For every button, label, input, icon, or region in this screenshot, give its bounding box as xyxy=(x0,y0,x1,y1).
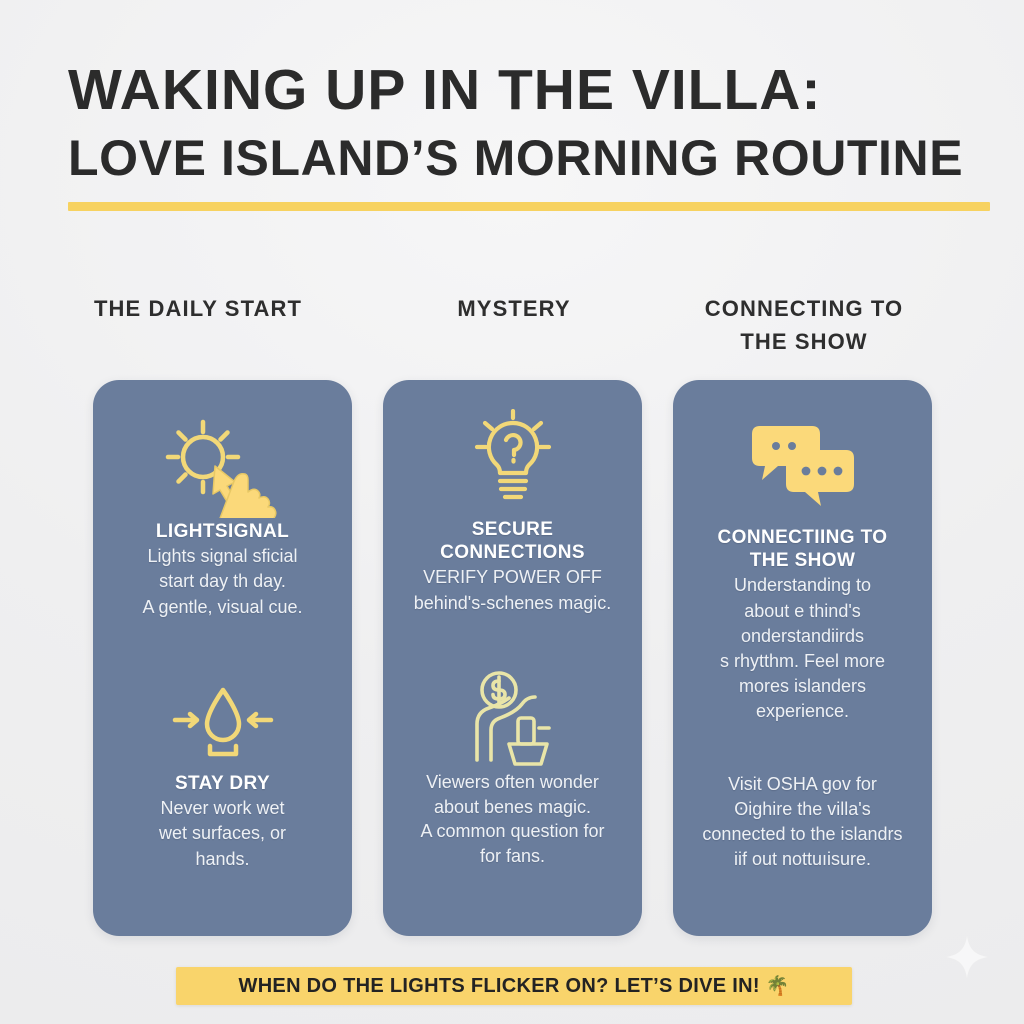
card1-block1-body: Lights signal sficial start day th day. … xyxy=(107,544,338,620)
card2-block1-body-line-2: behind's-schenes magic. xyxy=(397,591,628,616)
page-title-line-2: LOVE ISLAND’S MORNING ROUTINE xyxy=(68,133,990,183)
card1-block-lightsignal: LIGHTSIGNAL Lights signal sficial start … xyxy=(107,520,338,620)
card-daily-start[interactable]: LIGHTSIGNAL Lights signal sficial start … xyxy=(93,380,352,936)
card1-block1-title: LIGHTSIGNAL xyxy=(107,520,338,543)
water-droplet-icon xyxy=(107,668,338,772)
card3-block1-body-line-4: s rhytthm. Feel more xyxy=(687,649,918,674)
card3-block2-body-line-4: iif out nottuıisure. xyxy=(687,847,918,872)
card3-block1-body-line-3: onderstandiirds xyxy=(687,624,918,649)
cta-banner[interactable]: WHEN DO THE LIGHTS FLICKER ON? LET’S DIV… xyxy=(176,967,852,1005)
column-heading-daily-start: THE DAILY START xyxy=(94,292,354,358)
card3-block2-body-line-2: ʘighire the villa's xyxy=(687,797,918,822)
infographic-page: WAKING UP IN THE VILLA: LOVE ISLAND’S MO… xyxy=(0,0,1024,1024)
card2-block2-body-line-4: for fans. xyxy=(397,844,628,869)
title-underline-rule xyxy=(68,202,990,211)
column-headings: THE DAILY START MYSTERY CONNECTING TO TH… xyxy=(94,292,934,358)
card3-block-osha: Visit OSHA gov for ʘighire the villa's c… xyxy=(687,771,918,871)
card3-block1-body-line-6: experience. xyxy=(687,699,918,724)
column-heading-connecting-line-1: CONNECTING TO xyxy=(674,292,934,325)
card1-block1-body-line-1: Lights signal sficial xyxy=(107,544,338,569)
lightbulb-question-icon xyxy=(397,406,628,518)
card2-block2-body-line-1: Viewers often wonder xyxy=(397,770,628,795)
card3-block1-title-line-1: CONNECTIING TO xyxy=(687,526,918,549)
card-connecting-to-the-show[interactable]: CONNECTIING TO THE SHOW Understanding to… xyxy=(673,380,932,936)
card3-block1-title-line-2: THE SHOW xyxy=(687,549,918,572)
card2-block1-body: VERIFY POWER OFF behind's-schenes magic. xyxy=(397,565,628,615)
card2-block1-body-line-1: VERIFY POWER OFF xyxy=(397,565,628,590)
card3-block1-body-line-1: Understanding to xyxy=(687,573,918,598)
card3-block1-body-line-5: mores islanders xyxy=(687,674,918,699)
cta-banner-text: WHEN DO THE LIGHTS FLICKER ON? LET’S DIV… xyxy=(239,975,760,998)
column-heading-mystery: MYSTERY xyxy=(384,292,644,358)
card1-block2-body-line-2: wet surfaces, or xyxy=(107,821,338,846)
page-title-line-1: WAKING UP IN THE VILLA: xyxy=(68,62,990,119)
card2-block1-title-line-1: SECURE xyxy=(397,518,628,541)
sun-with-pointer-icon xyxy=(107,408,338,520)
card1-block2-body: Never work wet wet surfaces, or hands. xyxy=(107,796,338,872)
header: WAKING UP IN THE VILLA: LOVE ISLAND’S MO… xyxy=(68,62,990,211)
card3-block2-body-line-1: Visit OSHA gov for xyxy=(687,772,918,797)
card1-block2-title: STAY DRY xyxy=(107,772,338,795)
card1-block-stay-dry: STAY DRY Never work wet wet surfaces, or… xyxy=(107,772,338,872)
card2-block-secure-connections: SECURE CONNECTIONS VERIFY POWER OFF behi… xyxy=(397,518,628,616)
palm-tree-icon: 🌴 xyxy=(766,974,790,998)
card-row: LIGHTSIGNAL Lights signal sficial start … xyxy=(93,380,934,936)
card1-block2-body-line-1: Never work wet xyxy=(107,796,338,821)
card2-block-viewers: Viewers often wonder about benes magic. … xyxy=(397,769,628,869)
card1-block1-body-line-2: start day th day. xyxy=(107,569,338,594)
card3-block1-title: CONNECTIING TO THE SHOW xyxy=(687,526,918,572)
card2-block1-title-line-2: CONNECTIONS xyxy=(397,541,628,564)
card-mystery[interactable]: SECURE CONNECTIONS VERIFY POWER OFF behi… xyxy=(383,380,642,936)
card2-block1-title: SECURE CONNECTIONS xyxy=(397,518,628,564)
speech-bubbles-icon xyxy=(687,414,918,526)
card3-block2-body-line-3: connected to the islandrs xyxy=(687,822,918,847)
four-point-sparkle-icon xyxy=(944,934,990,980)
column-heading-connecting-line-2: THE SHOW xyxy=(674,325,934,358)
column-heading-connecting: CONNECTING TO THE SHOW xyxy=(674,292,934,358)
card3-block1-body: Understanding to about e thind's onderst… xyxy=(687,573,918,724)
card2-block2-body: Viewers often wonder about benes magic. … xyxy=(397,770,628,869)
card1-block1-body-line-3: A gentle, visual cue. xyxy=(107,595,338,620)
card1-block2-body-line-3: hands. xyxy=(107,847,338,872)
coin-dispenser-icon xyxy=(397,665,628,769)
card3-block2-body: Visit OSHA gov for ʘighire the villa's c… xyxy=(687,772,918,871)
card3-block1-body-line-2: about e thind's xyxy=(687,599,918,624)
card2-block2-body-line-2: about benes magic. xyxy=(397,795,628,820)
card2-block2-body-line-3: A common question for xyxy=(397,819,628,844)
card3-block-connecting: CONNECTIING TO THE SHOW Understanding to… xyxy=(687,526,918,724)
